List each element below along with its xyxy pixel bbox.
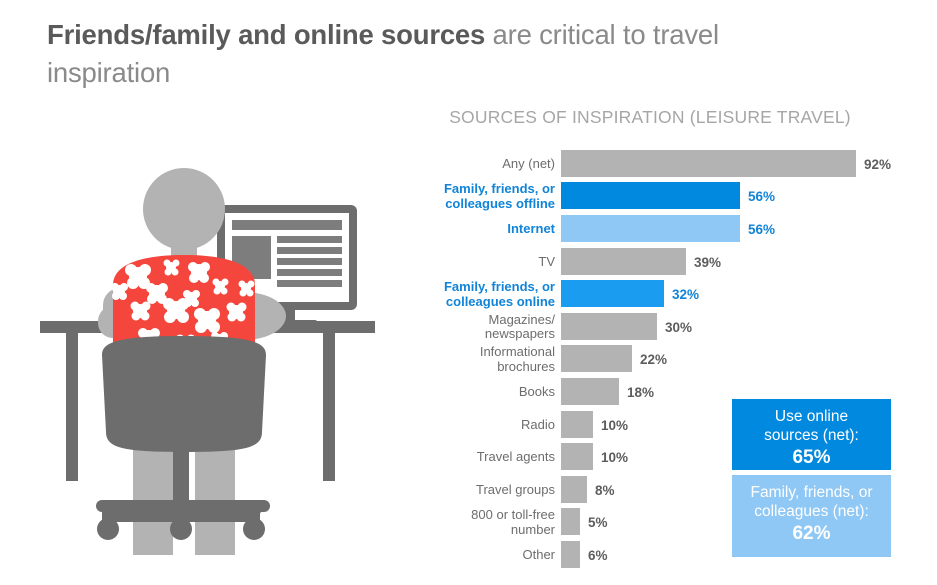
callout-use-online-sources: Use online sources (net): 65% <box>732 399 891 470</box>
callout-label: Family, friends, or colleagues (net): <box>732 484 891 521</box>
bar <box>561 313 657 340</box>
callout-value: 62% <box>732 522 891 546</box>
bar-value-label: 18% <box>627 385 654 400</box>
bar-value-label: 32% <box>672 287 699 302</box>
bar-fill <box>561 280 664 307</box>
bar-value-label: 39% <box>694 255 721 270</box>
bar <box>561 215 740 242</box>
bar-value-label: 10% <box>601 418 628 433</box>
bar-label: Radio <box>440 418 555 433</box>
bar-label: Books <box>440 385 555 400</box>
callout-label: Use online sources (net): <box>732 408 891 445</box>
bar-label: Travel agents <box>440 450 555 465</box>
bar-row: Internet56% <box>440 212 937 245</box>
callout-family-friends-colleagues: Family, friends, or colleagues (net): 62… <box>732 475 891 557</box>
bar-value-label: 56% <box>748 189 775 204</box>
bar-fill <box>561 378 619 405</box>
bar <box>561 182 740 209</box>
bar-row: Informational brochures22% <box>440 343 937 376</box>
chart-title: SOURCES OF INSPIRATION (LEISURE TRAVEL) <box>440 107 860 128</box>
bar <box>561 541 580 568</box>
bar-fill <box>561 443 593 470</box>
bar-fill <box>561 182 740 209</box>
chart-panel: SOURCES OF INSPIRATION (LEISURE TRAVEL) … <box>440 100 937 580</box>
bar-label: Travel groups <box>440 483 555 498</box>
bar-value-label: 30% <box>665 320 692 335</box>
callout-value: 65% <box>732 446 891 470</box>
bar <box>561 378 619 405</box>
bar-fill <box>561 345 632 372</box>
bar-row: Family, friends, or colleagues offline56… <box>440 180 937 213</box>
bar-label: Magazines/ newspapers <box>440 313 555 342</box>
bar-label: Family, friends, or colleagues offline <box>440 182 555 211</box>
bar-row: Family, friends, or colleagues online32% <box>440 277 937 310</box>
bar-label: Family, friends, or colleagues online <box>440 280 555 309</box>
bar-label: TV <box>440 255 555 270</box>
page-title-emphasis: Friends/family and online sources <box>47 19 485 50</box>
bar <box>561 443 593 470</box>
bar-value-label: 10% <box>601 450 628 465</box>
bar-value-label: 8% <box>595 483 615 498</box>
person-head <box>143 168 225 250</box>
bar <box>561 248 686 275</box>
bar-fill <box>561 248 686 275</box>
person-at-desk-illustration <box>40 160 435 565</box>
page-title: Friends/family and online sources are cr… <box>47 16 827 92</box>
bar-label: 800 or toll-free number <box>440 508 555 537</box>
bar <box>561 150 856 177</box>
bar-value-label: 22% <box>640 352 667 367</box>
bar-fill <box>561 476 587 503</box>
bar <box>561 280 664 307</box>
bar-row: Magazines/ newspapers30% <box>440 310 937 343</box>
bar-label: Internet <box>440 222 555 237</box>
bar-fill <box>561 541 580 568</box>
bar-row: Any (net)92% <box>440 147 937 180</box>
bar <box>561 411 593 438</box>
bar-label: Informational brochures <box>440 345 555 374</box>
bar-fill <box>561 150 856 177</box>
bar-row: TV39% <box>440 245 937 278</box>
bar-label: Any (net) <box>440 157 555 172</box>
bar <box>561 508 580 535</box>
bar-fill <box>561 313 657 340</box>
bar <box>561 476 587 503</box>
bar-value-label: 6% <box>588 548 608 563</box>
bar-label: Other <box>440 548 555 563</box>
bar-fill <box>561 508 580 535</box>
bar <box>561 345 632 372</box>
bar-fill <box>561 215 740 242</box>
bar-value-label: 56% <box>748 222 775 237</box>
bar-fill <box>561 411 593 438</box>
bar-value-label: 5% <box>588 515 608 530</box>
office-chair <box>96 336 270 540</box>
bar-value-label: 92% <box>864 157 891 172</box>
